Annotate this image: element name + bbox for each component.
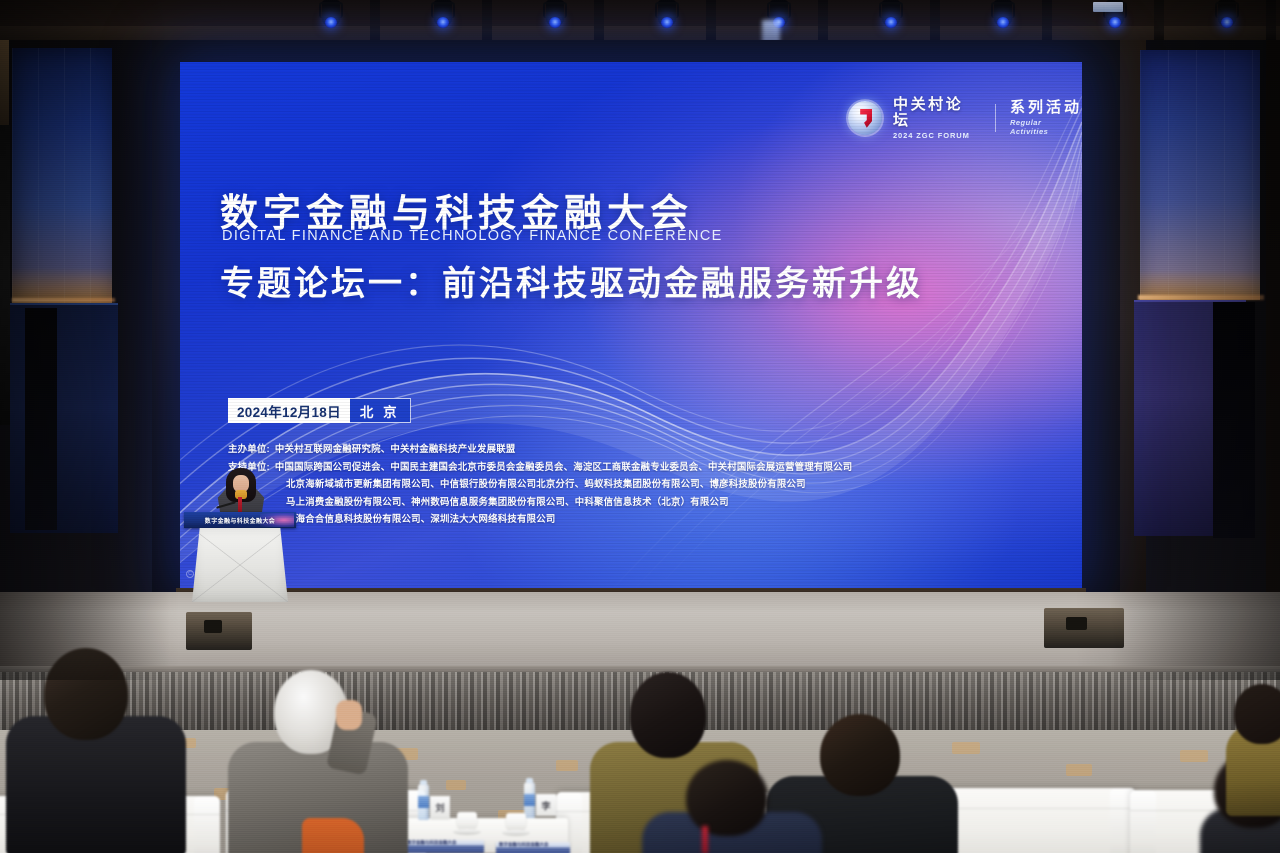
light-truss-drop (1154, 0, 1164, 44)
stage-light-1 (318, 0, 344, 36)
stage-light-6 (878, 0, 904, 36)
sponsor-text: 中国国际跨国公司促进会、中国民主建国会北京市委员会金融委员会、海淀区工商联金融专… (275, 461, 853, 472)
stage-light-3 (542, 0, 568, 36)
light-lens-icon (437, 17, 449, 28)
logo-text-block: 中关村论坛 2024 ZGC FORUM (893, 97, 981, 140)
light-yoke (319, 2, 343, 18)
forum-subtitle-cn: 专题论坛一：前沿科技驱动金融服务新升级 (220, 256, 923, 305)
person-scarf (302, 818, 364, 853)
zgc-forum-icon (848, 101, 882, 135)
tea-cup (506, 813, 526, 832)
light-lens-icon (997, 17, 1009, 28)
person-head (820, 714, 900, 796)
sponsor-text: 马上消费金融股份有限公司、神州数码信息服务集团股份有限公司、中科聚信信息技术（北… (286, 496, 729, 507)
logo-series-block: 系列活动 Regular Activities (1010, 100, 1082, 136)
sponsor-text: 上海合合信息科技股份有限公司、深圳法大大网络科技有限公司 (286, 513, 556, 524)
table-tent-text: 数字金融与科技金融大会 (499, 842, 549, 848)
sponsor-list: 主办单位:中关村互联网金融研究院、中关村金融科技产业发展联盟支持单位:中国国际跨… (228, 440, 852, 528)
ceiling-sign (1093, 2, 1123, 12)
sponsor-text: 中关村互联网金融研究院、中关村金融科技产业发展联盟 (275, 443, 516, 454)
light-lens-icon (1221, 17, 1233, 28)
left-wall-door (25, 308, 57, 530)
light-yoke (1215, 2, 1239, 18)
bottle-cap (526, 778, 533, 783)
badge-city: 北 京 (350, 398, 411, 423)
light-lens-icon (325, 17, 337, 28)
podium-body (192, 528, 288, 602)
person-head (44, 648, 128, 740)
monitor-grille (204, 620, 221, 633)
light-truss-drop (818, 0, 828, 44)
audience-person-7 (1226, 684, 1280, 794)
date-location-badge: 2024年12月18日 北 京 (228, 398, 411, 423)
light-yoke (767, 2, 791, 18)
stage-monitor-right (1044, 608, 1124, 648)
badge-date: 2024年12月18日 (228, 398, 350, 423)
logo-series-cn: 系列活动 (1010, 100, 1082, 116)
right-wall-door (1213, 302, 1255, 538)
sponsor-line-2: 支持单位:中国国际跨国公司促进会、中国民主建国会北京市委员会金融委员会、海淀区工… (228, 458, 852, 476)
light-truss-drop (1266, 0, 1276, 44)
light-truss-drop (930, 0, 940, 44)
stage-light-9 (1214, 0, 1240, 36)
right-wall-upper-panel (1140, 50, 1260, 300)
sponsor-text: 北京海新域城市更新集团有限公司、中信银行股份有限公司北京分行、蚂蚁科技集团股份有… (286, 478, 806, 489)
person-hand (336, 700, 362, 730)
light-truss-drop (594, 0, 604, 44)
speaker-lanyard (238, 497, 242, 513)
cup-saucer (453, 829, 481, 835)
right-wall-post-outer (1266, 40, 1280, 660)
logo-cn-text: 中关村论坛 (893, 97, 981, 129)
place-name-text: 刘 (430, 796, 450, 818)
table-tent-card: 数字金融与科技金融大会 (496, 842, 570, 853)
forum-logo-lockup: 中关村论坛 2024 ZGC FORUM 系列活动 Regular Activi… (848, 97, 1082, 140)
sofa-arm (1130, 790, 1156, 853)
light-yoke (543, 2, 567, 18)
light-truss-drop (1042, 0, 1052, 44)
light-yoke (655, 2, 679, 18)
left-wall (0, 40, 152, 660)
sofa-arm (194, 796, 220, 853)
water-bottle (524, 782, 535, 818)
led-backdrop-screen: 中关村论坛 2024 ZGC FORUM 系列活动 Regular Activi… (180, 62, 1082, 592)
podium-and-speaker: 数字金融与科技金融大会 (182, 468, 300, 602)
light-lens-icon (885, 17, 897, 28)
person-lanyard (702, 826, 708, 853)
conference-photo-scene: 中关村论坛 2024 ZGC FORUM 系列活动 Regular Activi… (0, 0, 1280, 853)
conference-title-en: DIGITAL FINANCE AND TECHNOLOGY FINANCE C… (222, 228, 723, 244)
light-lens-icon (549, 17, 561, 28)
sponsor-line-1: 主办单位:中关村互联网金融研究院、中关村金融科技产业发展联盟 (228, 440, 852, 458)
place-name-text: 李 (536, 794, 556, 816)
place-name-card: 刘 (430, 796, 450, 818)
place-name-card: 李 (536, 794, 556, 816)
light-yoke (879, 2, 903, 18)
sponsor-line-3: 北京海新域城市更新集团有限公司、中信银行股份有限公司北京分行、蚂蚁科技集团股份有… (228, 475, 852, 493)
left-wall-glow-strip (12, 298, 115, 302)
stage-light-2 (430, 0, 456, 36)
right-wall (1120, 40, 1280, 660)
stage-light-7 (990, 0, 1016, 36)
light-lens-icon (1109, 17, 1121, 28)
stage-monitor-left (186, 612, 252, 650)
person-head (630, 672, 706, 758)
tea-cup (457, 812, 477, 831)
person-head (1234, 684, 1280, 744)
logo-en-text: 2024 ZGC FORUM (893, 131, 981, 140)
light-lens-icon (661, 17, 673, 28)
person-head (686, 760, 768, 836)
left-line-array-speaker (0, 125, 10, 425)
audience-person-1 (6, 648, 196, 853)
light-yoke (431, 2, 455, 18)
light-yoke (991, 2, 1015, 18)
logo-divider (995, 104, 996, 132)
stage-light-4 (654, 0, 680, 36)
cup-saucer (502, 830, 530, 836)
sponsor-line-4: 马上消费金融股份有限公司、神州数码信息服务集团股份有限公司、中科聚信信息技术（北… (228, 493, 852, 511)
left-wall-upper-panel (12, 48, 112, 303)
light-truss-drop (370, 0, 380, 44)
sponsor-line-5: 上海合合信息科技股份有限公司、深圳法大大网络科技有限公司 (228, 510, 852, 528)
sponsor-label: 主办单位: (228, 443, 270, 454)
podium-banner: 数字金融与科技金融大会 (184, 512, 296, 528)
monitor-grille (1066, 617, 1087, 631)
zgc-glyph-icon (857, 109, 872, 128)
light-truss-drop (706, 0, 716, 44)
light-truss-drop (482, 0, 492, 44)
audience-person-2 (226, 670, 422, 853)
bottle-label (524, 794, 535, 806)
audience-person-5 (642, 760, 832, 853)
logo-series-en: Regular Activities (1010, 118, 1082, 136)
podium-banner-text: 数字金融与科技金融大会 (184, 512, 296, 528)
